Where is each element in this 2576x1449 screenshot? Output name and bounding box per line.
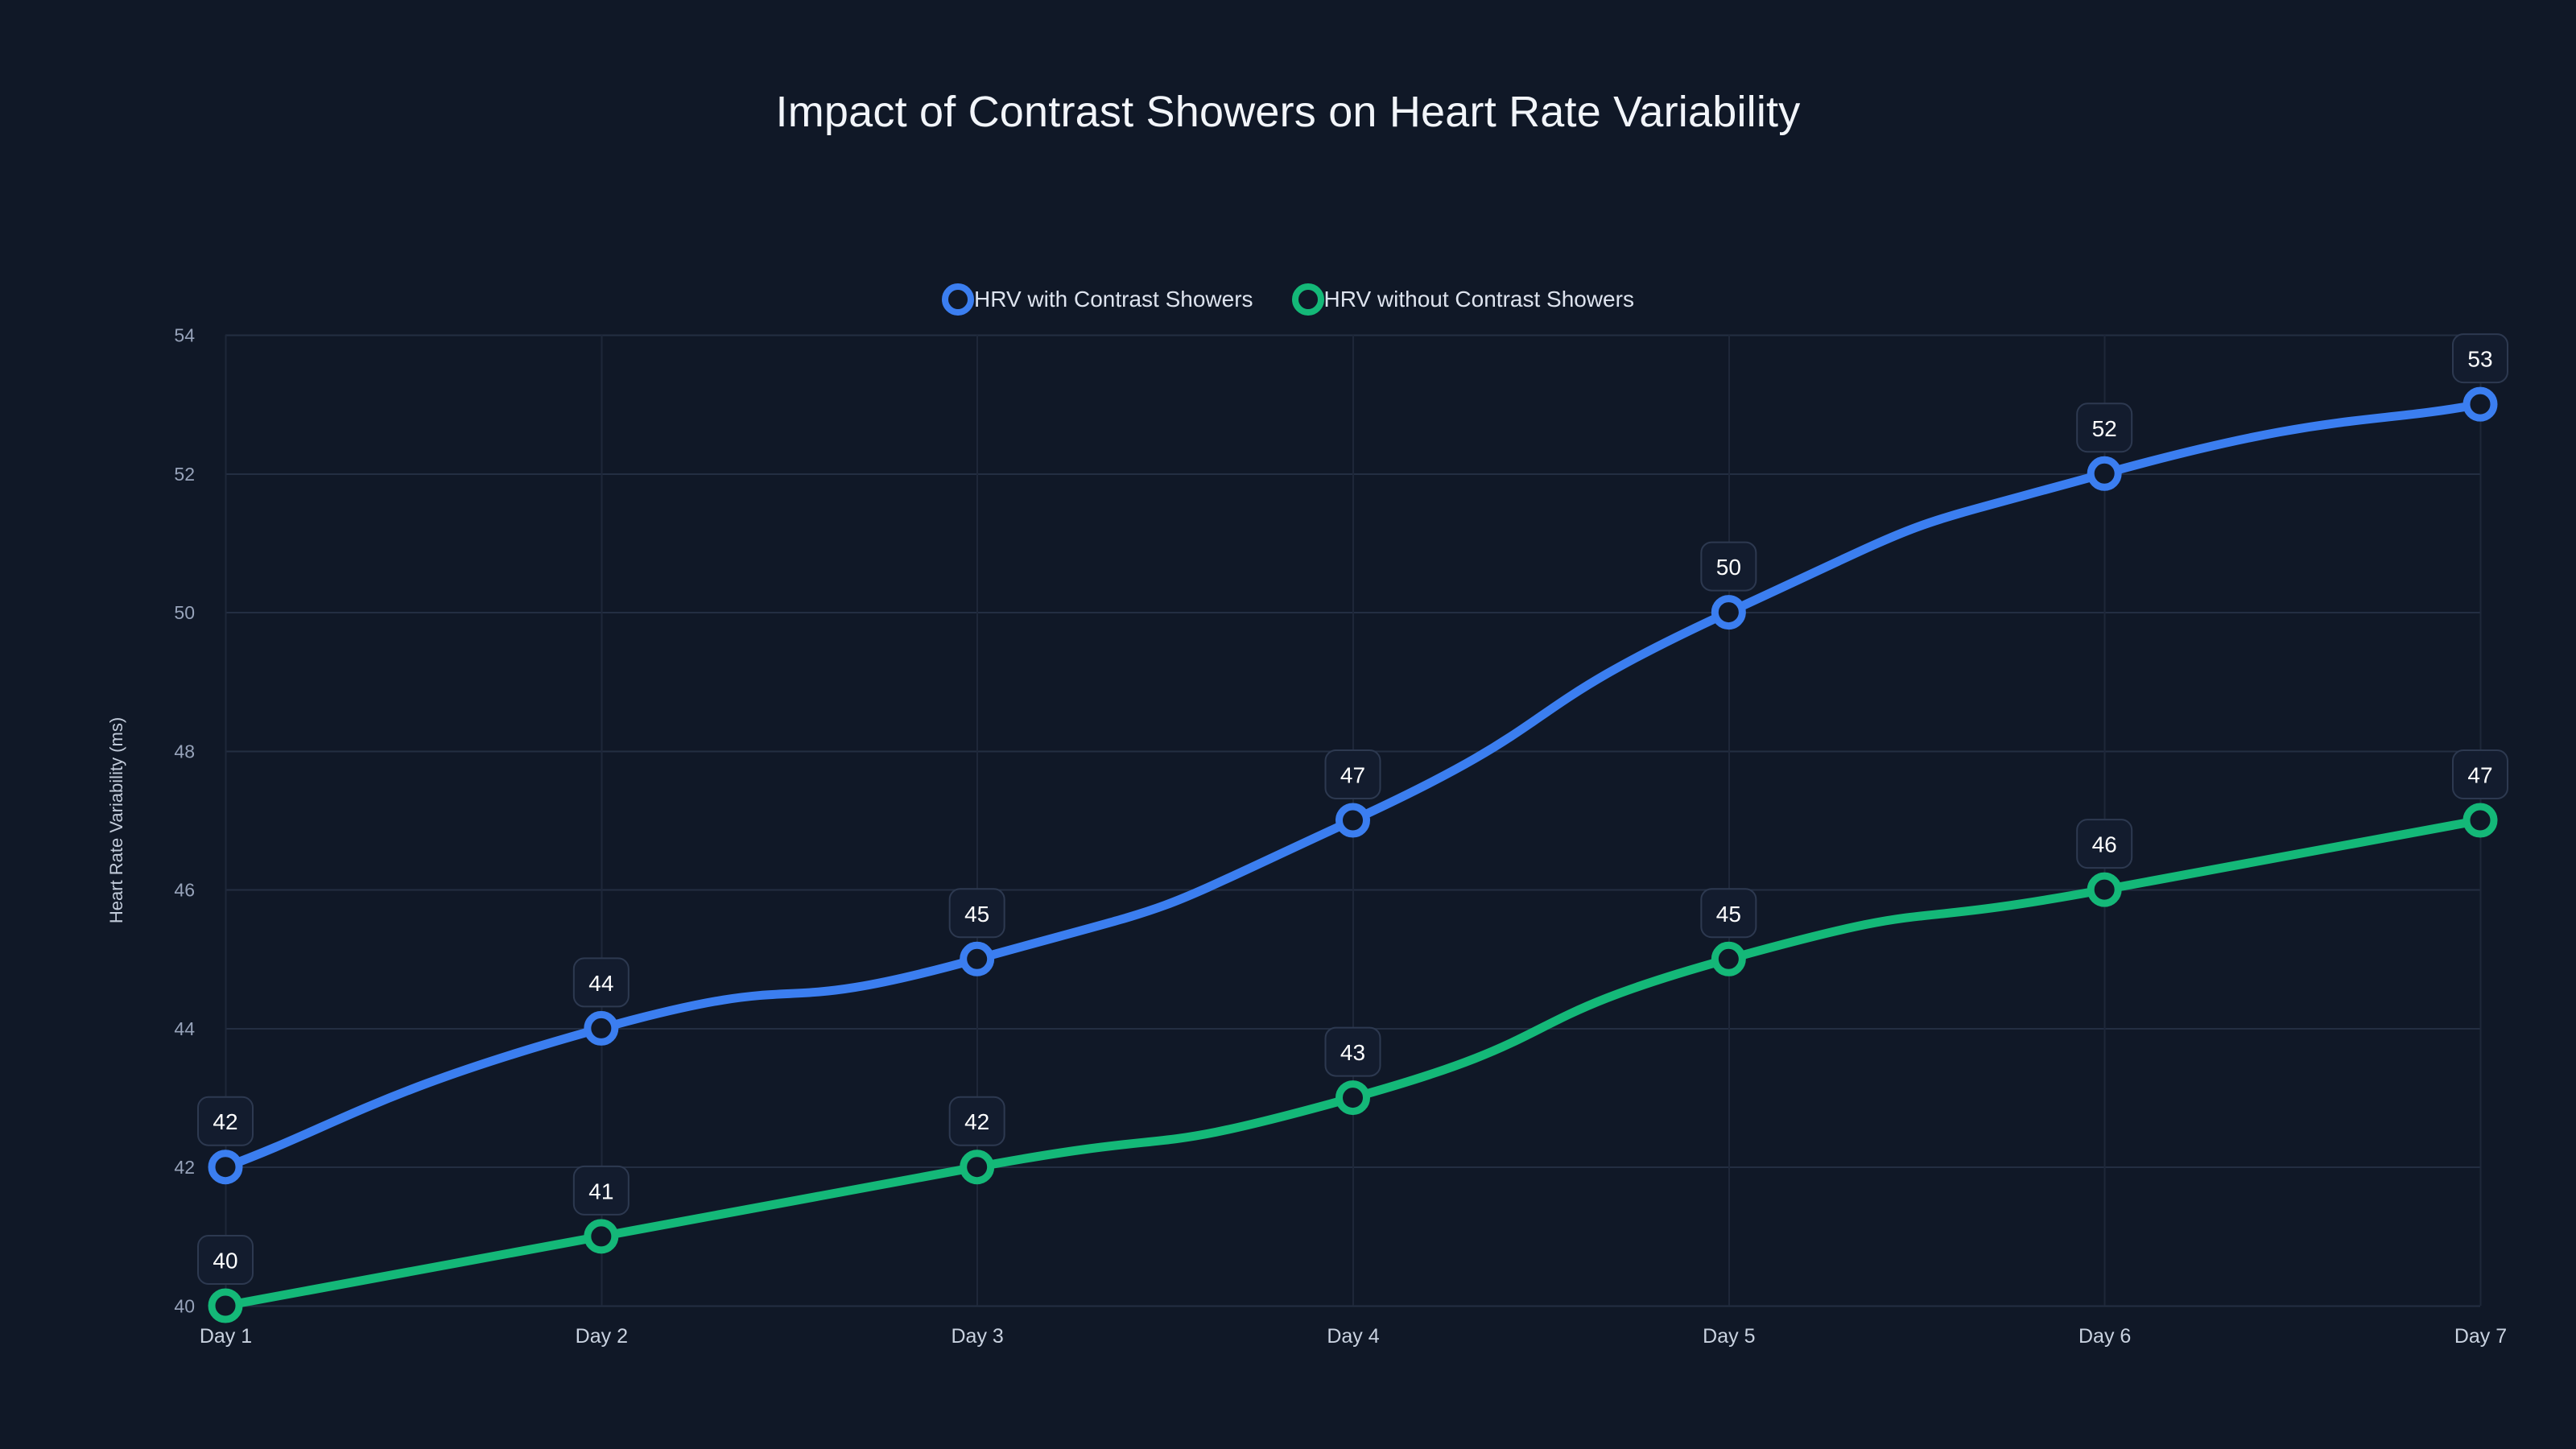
data-point-label-text: 43: [1340, 1040, 1365, 1065]
x-tick-label: Day 1: [200, 1325, 252, 1348]
data-point-label: 41: [574, 1166, 629, 1215]
data-point-label-text: 50: [1716, 555, 1741, 580]
data-point-label: 45: [950, 889, 1005, 937]
x-tick-label: Day 7: [2454, 1325, 2507, 1348]
x-tick-label: Day 3: [952, 1325, 1004, 1348]
data-point-marker[interactable]: [2467, 807, 2494, 834]
y-tick-label: 42: [174, 1157, 195, 1178]
x-tick-label: Day 5: [1703, 1325, 1755, 1348]
data-point-label: 44: [574, 958, 629, 1006]
y-tick-label: 54: [174, 325, 195, 346]
data-point-marker[interactable]: [1715, 599, 1742, 626]
data-point-label-text: 53: [2467, 347, 2492, 372]
data-point-marker[interactable]: [964, 945, 991, 972]
y-tick-label: 46: [174, 880, 195, 901]
data-point-label-text: 47: [2467, 763, 2492, 788]
data-point-label-text: 42: [964, 1109, 989, 1134]
y-tick-label: 48: [174, 741, 195, 762]
data-point-label-text: 46: [2092, 832, 2117, 857]
chart-plot-area: 4042444648505254Day 1Day 2Day 3Day 4Day …: [0, 0, 2576, 1449]
y-axis-title: Heart Rate Variability (ms): [106, 717, 126, 923]
y-tick-label: 40: [174, 1296, 195, 1317]
chart-container: Impact of Contrast Showers on Heart Rate…: [0, 0, 2576, 1449]
data-point-label: 47: [2453, 750, 2508, 799]
x-tick-label: Day 6: [2079, 1325, 2131, 1348]
data-point-marker[interactable]: [212, 1154, 239, 1181]
data-point-label-text: 40: [213, 1249, 237, 1274]
data-point-label-text: 45: [1716, 902, 1741, 927]
data-point-label: 50: [1701, 543, 1756, 591]
data-point-label-text: 45: [964, 902, 989, 927]
data-point-label: 47: [1326, 750, 1381, 799]
y-tick-label: 44: [174, 1018, 195, 1039]
data-point-label-text: 52: [2092, 416, 2117, 441]
x-tick-label: Day 4: [1327, 1325, 1379, 1348]
data-point-label: 46: [2077, 819, 2132, 868]
data-point-label: 52: [2077, 403, 2132, 452]
data-point-marker[interactable]: [1340, 807, 1367, 834]
data-point-label-text: 44: [588, 971, 613, 996]
y-tick-label: 50: [174, 602, 195, 623]
data-point-marker[interactable]: [212, 1292, 239, 1319]
data-point-marker[interactable]: [2467, 390, 2494, 418]
data-point-label: 40: [198, 1236, 253, 1284]
data-point-label: 43: [1326, 1028, 1381, 1076]
data-point-label: 42: [198, 1097, 253, 1146]
data-point-label-text: 47: [1340, 763, 1365, 788]
data-point-marker[interactable]: [2091, 460, 2118, 487]
data-point-marker[interactable]: [2091, 876, 2118, 903]
data-point-marker[interactable]: [588, 1014, 615, 1042]
data-point-label: 45: [1701, 889, 1756, 937]
x-tick-label: Day 2: [576, 1325, 628, 1348]
data-point-label: 42: [950, 1097, 1005, 1146]
data-point-label-text: 41: [588, 1179, 613, 1203]
data-point-label: 53: [2453, 334, 2508, 382]
data-point-marker[interactable]: [588, 1223, 615, 1250]
y-tick-label: 52: [174, 464, 195, 485]
data-point-marker[interactable]: [964, 1154, 991, 1181]
data-point-marker[interactable]: [1715, 945, 1742, 972]
data-point-label-text: 42: [213, 1109, 237, 1134]
data-point-marker[interactable]: [1340, 1084, 1367, 1112]
